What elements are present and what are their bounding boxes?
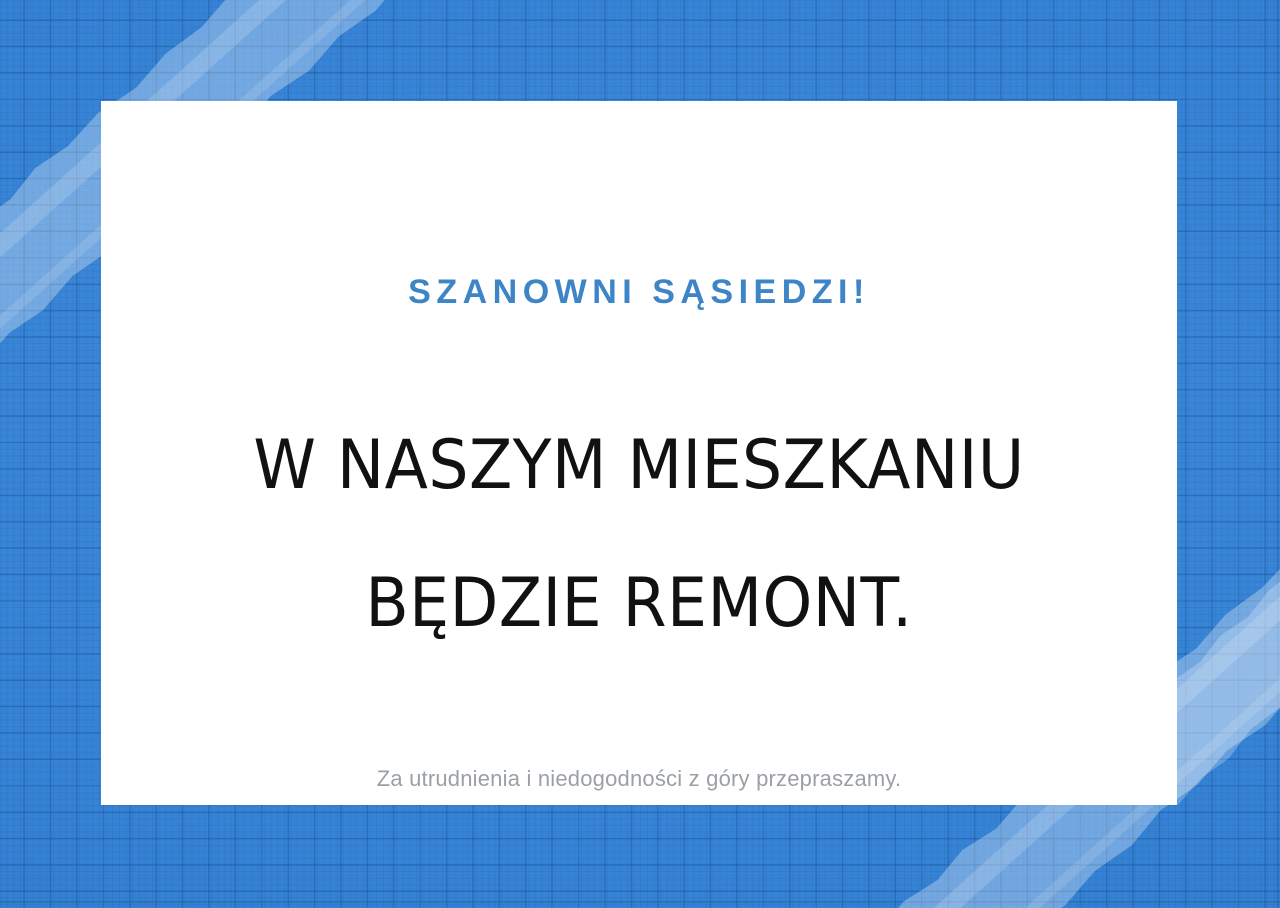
headline-line-1: W NASZYM MIESZKANIU — [139, 431, 1140, 500]
main-announcement-heading: W NASZYM MIESZKANIU BĘDZIE REMONT. — [139, 311, 1140, 708]
headline-line-2: BĘDZIE REMONT. — [139, 569, 1140, 638]
greeting-heading: SZANOWNI SĄSIEDZI! — [101, 101, 1177, 311]
apology-note: Za utrudnienia i niedogodności z góry pr… — [101, 708, 1177, 795]
announcement-card: SZANOWNI SĄSIEDZI! W NASZYM MIESZKANIU B… — [101, 101, 1177, 805]
card-content: SZANOWNI SĄSIEDZI! W NASZYM MIESZKANIU B… — [101, 101, 1177, 795]
poster-canvas: SZANOWNI SĄSIEDZI! W NASZYM MIESZKANIU B… — [0, 0, 1280, 908]
